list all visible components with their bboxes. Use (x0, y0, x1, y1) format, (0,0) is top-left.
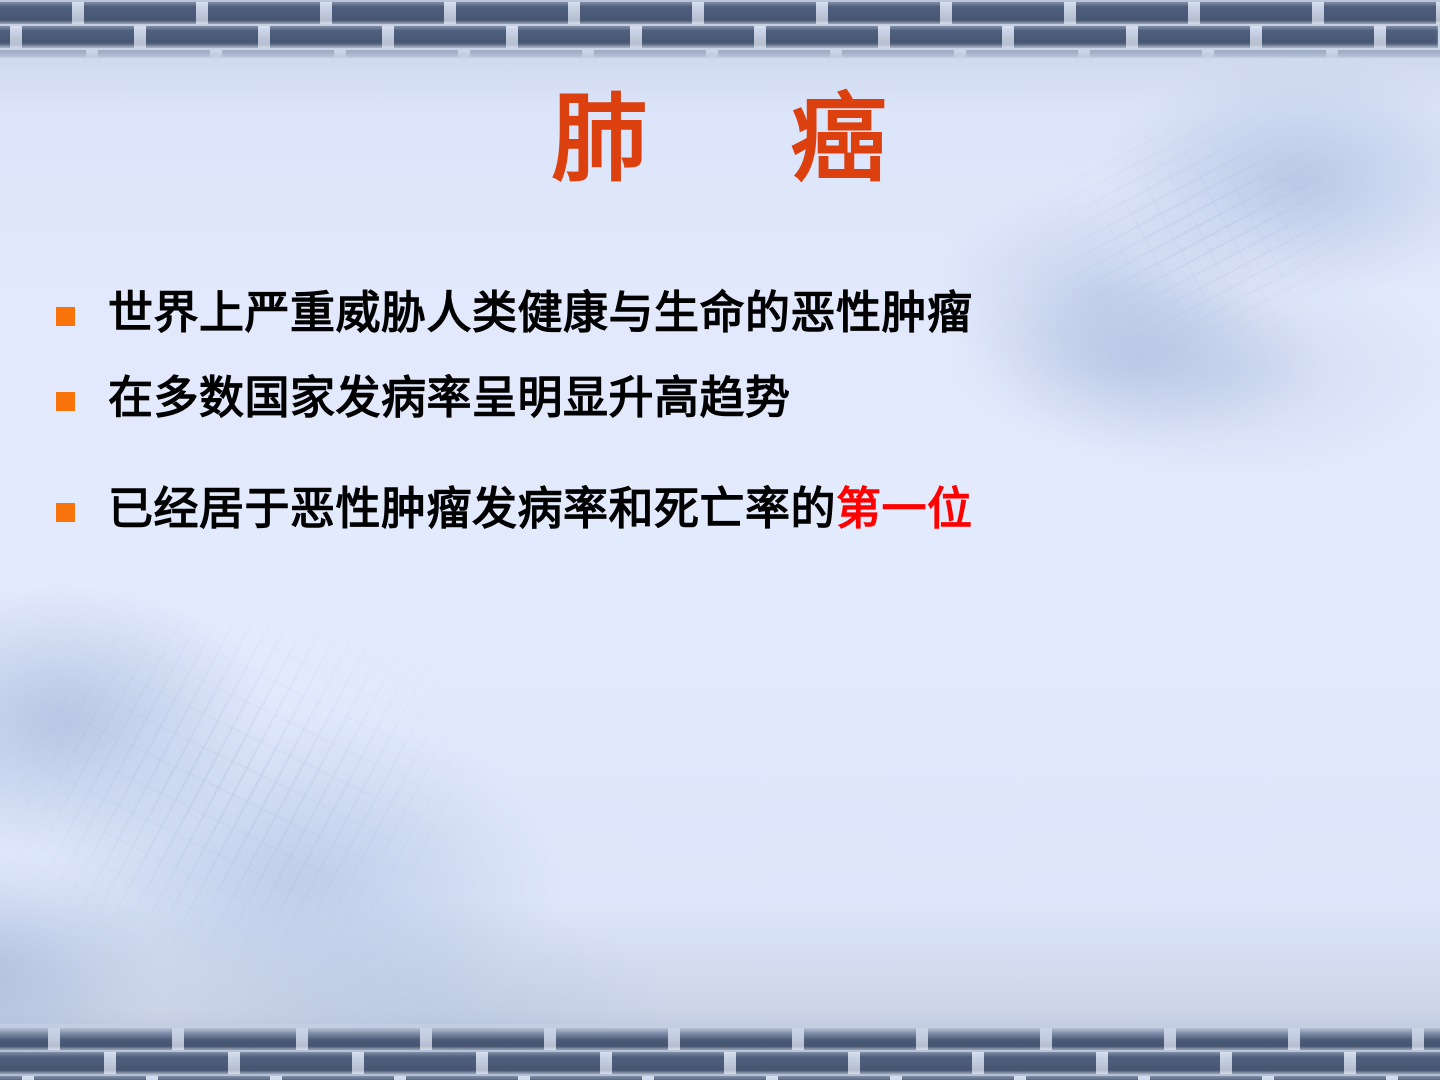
great-wall-linework-left (0, 560, 580, 1020)
list-item-text-2: 在多数国家发病率呈明显升高趋势 (108, 371, 791, 426)
slide-title: 肺 癌 (0, 86, 1440, 192)
list-item-label: 已经居于恶性肿瘤发病率和死亡率的 (108, 482, 836, 535)
square-bullet-icon (56, 307, 75, 326)
brick-row (0, 1052, 1440, 1074)
list-item: 世界上严重威胁人类健康与生命的恶性肿瘤 (56, 286, 1376, 341)
brick-row (0, 50, 1440, 58)
list-item-highlight: 第一位 (836, 482, 973, 535)
list-item-label: 世界上严重威胁人类健康与生命的恶性肿瘤 (108, 286, 973, 339)
square-bullet-icon (56, 392, 75, 411)
slide-body-list: 世界上严重威胁人类健康与生命的恶性肿瘤 在多数国家发病率呈明显升高趋势 已经居于… (56, 286, 1376, 567)
list-item: 在多数国家发病率呈明显升高趋势 (56, 371, 1376, 426)
brick-row (0, 26, 1438, 48)
presentation-slide: 肺 癌 世界上严重威胁人类健康与生命的恶性肿瘤 在多数国家发病率呈明显升高趋势 … (0, 0, 1440, 1080)
top-brick-border (0, 0, 1440, 58)
list-item-label: 在多数国家发病率呈明显升高趋势 (108, 371, 791, 424)
bottom-brick-border (0, 1024, 1440, 1080)
brick-row (0, 1028, 1440, 1050)
great-wall-watermark-left (0, 500, 700, 1080)
square-bullet-icon (56, 503, 75, 522)
list-item-text-3: 已经居于恶性肿瘤发病率和死亡率的第一位 (108, 482, 973, 537)
list-item-text-1: 世界上严重威胁人类健康与生命的恶性肿瘤 (108, 286, 973, 341)
list-item: 已经居于恶性肿瘤发病率和死亡率的第一位 (56, 482, 1376, 537)
brick-row (0, 1076, 1440, 1080)
brick-row (0, 2, 1440, 24)
